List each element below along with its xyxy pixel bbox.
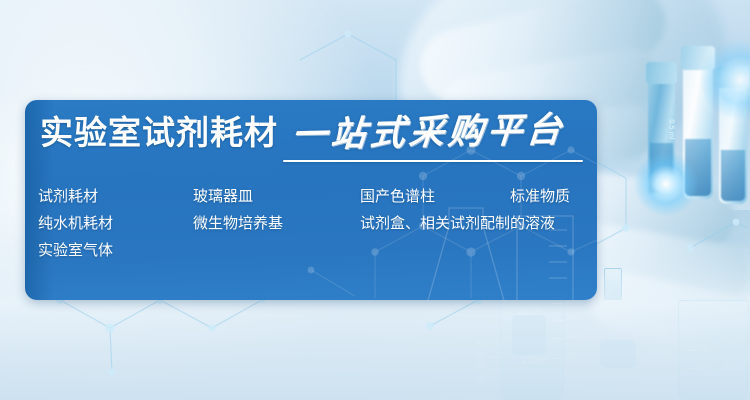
category-item[interactable]: 试剂耗材	[38, 183, 98, 210]
category-item[interactable]: 纯水机耗材	[38, 210, 113, 237]
vial-cap	[681, 46, 715, 70]
category-row: 纯水机耗材 微生物培养基 试剂盒、相关试剂配制的溶液	[38, 210, 594, 237]
test-tube-vial	[683, 64, 713, 199]
category-item[interactable]: 标准物质	[510, 183, 570, 210]
vial-liquid	[650, 143, 673, 193]
promo-panel: 实验室试剂耗材 一站式采购平台 试剂耗材 玻璃器皿 国产色谱柱 标准物质 纯水机…	[25, 100, 597, 300]
title-underline-rule	[283, 160, 583, 162]
test-tube-vial	[719, 82, 747, 204]
vial-liquid	[685, 139, 711, 196]
vial-cap	[717, 66, 749, 88]
title-script-text: 一站式采购平台	[290, 109, 567, 157]
category-item[interactable]: 实验室气体	[38, 237, 113, 264]
vial-label-text: 0.5 ml	[668, 119, 675, 139]
title-main-text: 实验室试剂耗材	[40, 112, 278, 154]
category-item[interactable]: 试剂盒、相关试剂配制的溶液	[360, 210, 555, 237]
banner-title: 实验室试剂耗材 一站式采购平台	[40, 112, 565, 154]
category-row: 试剂耗材 玻璃器皿 国产色谱柱 标准物质	[38, 183, 594, 210]
vial-liquid	[721, 150, 745, 201]
category-row: 实验室气体	[38, 237, 594, 264]
laboratory-reagent-banner: 0.5 ml 250 APPROX 200 150 100 50 250ml G…	[0, 0, 750, 400]
category-list: 试剂耗材 玻璃器皿 国产色谱柱 标准物质 纯水机耗材 微生物培养基 试剂盒、相关…	[38, 183, 594, 264]
category-item[interactable]: 玻璃器皿	[193, 183, 253, 210]
category-item[interactable]: 国产色谱柱	[360, 183, 435, 210]
vial-cap	[646, 62, 677, 84]
category-item[interactable]: 微生物培养基	[193, 210, 283, 237]
